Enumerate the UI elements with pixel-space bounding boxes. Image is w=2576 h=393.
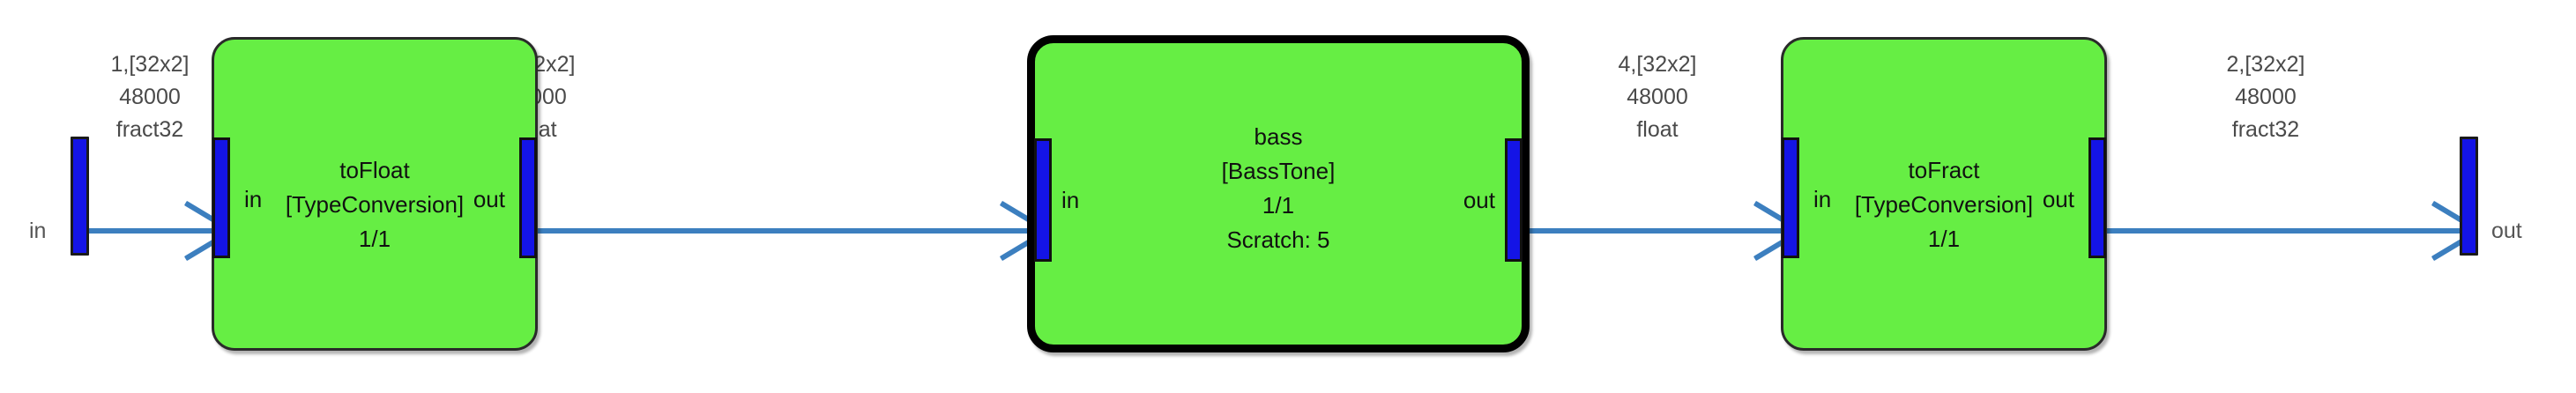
block-tofract-in-port-label: in (1813, 188, 1831, 211)
edge-label-line: 48000 (75, 81, 225, 114)
edge-label-3: 4,[32x2] 48000 float (1578, 48, 1737, 146)
block-bass-name: bass (1035, 118, 1522, 156)
edge-label-line: 48000 (1578, 81, 1737, 114)
block-bass-in-port-label: in (1061, 189, 1079, 211)
edge-arrowhead-3 (1750, 214, 1780, 248)
edge-label-line: fract32 (75, 114, 225, 146)
block-tofloat-out-port-label: out (473, 188, 505, 211)
block-tofloat-name: toFloat (214, 152, 535, 189)
block-tofract-out-port-label: out (2043, 188, 2074, 211)
block-tofloat-out-port[interactable] (519, 137, 537, 258)
block-bass[interactable]: in out bass [BassTone] 1/1 Scratch: 5 (1027, 35, 1530, 352)
edge-label-line: 4,[32x2] (1578, 48, 1737, 81)
edge-arrowhead-1 (181, 214, 211, 248)
terminal-label-out: out (2491, 220, 2522, 242)
block-bass-extra: Scratch: 5 (1035, 221, 1522, 259)
edge-label-line: 48000 (2186, 81, 2345, 114)
block-bass-in-port[interactable] (1034, 138, 1052, 262)
block-tofloat-in-port[interactable] (212, 137, 230, 258)
edge-label-4: 2,[32x2] 48000 fract32 (2186, 48, 2345, 146)
terminal-port-in[interactable] (71, 137, 89, 256)
edge-arrowhead-4 (2428, 214, 2458, 248)
edge-line-2[interactable] (536, 228, 1037, 234)
block-tofloat-ratio: 1/1 (214, 220, 535, 258)
edge-label-line: fract32 (2186, 114, 2345, 146)
block-tofract-name: toFract (1783, 152, 2104, 189)
block-tofloat[interactable]: in out toFloat [TypeConversion] 1/1 (212, 37, 538, 351)
terminal-port-out[interactable] (2460, 137, 2478, 256)
edge-label-line: 2,[32x2] (2186, 48, 2345, 81)
block-bass-out-port-label: out (1463, 189, 1495, 211)
edge-line-4[interactable] (2105, 228, 2468, 234)
block-tofract-out-port[interactable] (2088, 137, 2106, 258)
block-tofract[interactable]: in out toFract [TypeConversion] 1/1 (1781, 37, 2107, 351)
edge-label-line: float (1578, 114, 1737, 146)
edge-label-1: 1,[32x2] 48000 fract32 (75, 48, 225, 146)
block-tofloat-in-port-label: in (244, 188, 262, 211)
block-bass-out-port[interactable] (1505, 138, 1523, 262)
block-bass-type: [BassTone] (1035, 152, 1522, 190)
diagram-canvas: 1,[32x2] 48000 fract32 3,[32x2] 48000 fl… (0, 0, 2576, 393)
block-bass-ratio: 1/1 (1035, 187, 1522, 225)
edge-arrowhead-2 (996, 214, 1026, 248)
terminal-label-in: in (29, 220, 46, 242)
block-tofract-in-port[interactable] (1782, 137, 1799, 258)
edge-label-line: 1,[32x2] (75, 48, 225, 81)
block-tofract-ratio: 1/1 (1783, 220, 2104, 258)
